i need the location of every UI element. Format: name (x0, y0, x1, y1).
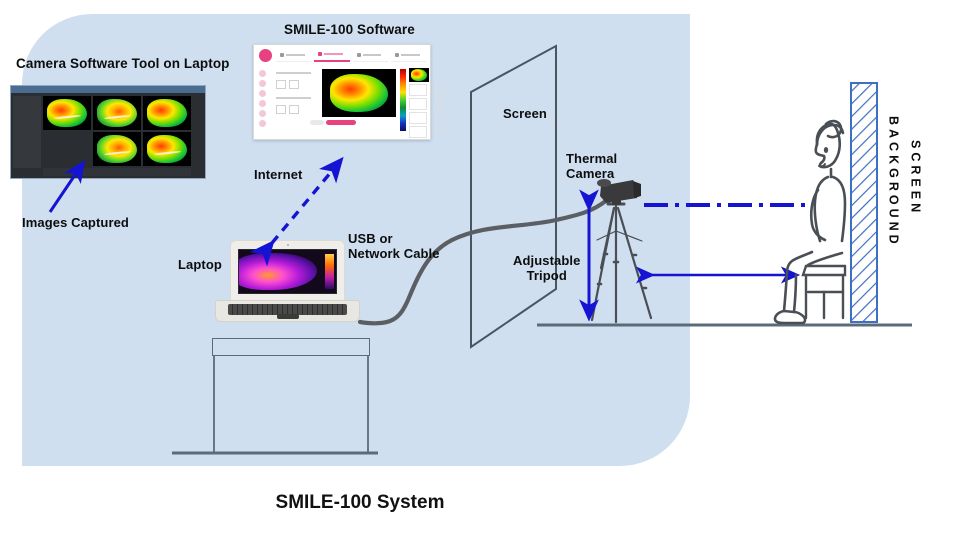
label-internet: Internet (254, 168, 302, 183)
label-background-vertical: BACKGROUND (886, 116, 900, 248)
screen-shape (471, 46, 556, 347)
label-usb-network-cable: USB or Network Cable (348, 232, 440, 262)
table-legs (214, 356, 368, 452)
chair-icon (803, 266, 845, 318)
label-camera-software-tool: Camera Software Tool on Laptop (16, 56, 230, 72)
page-title: SMILE-100 System (0, 492, 720, 514)
label-laptop: Laptop (178, 258, 222, 273)
label-screen: Screen (503, 107, 547, 122)
label-images-captured: Images Captured (22, 216, 129, 231)
label-adjustable-tripod: Adjustable Tripod (513, 254, 580, 284)
label-smile-software: SMILE-100 Software (284, 22, 415, 38)
vector-overlay (0, 0, 960, 540)
tripod-icon (592, 204, 651, 322)
images-captured-arrow (50, 163, 83, 212)
background-screen-icon (851, 83, 877, 322)
label-screen-vertical: SCREEN (908, 140, 922, 216)
label-thermal-camera: Thermal Camera (566, 152, 617, 182)
diagram-canvas: oto (0, 0, 960, 540)
laptop-scale-bar (325, 254, 334, 289)
